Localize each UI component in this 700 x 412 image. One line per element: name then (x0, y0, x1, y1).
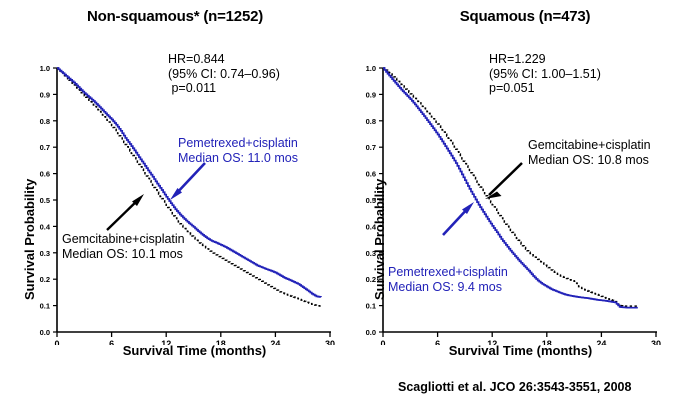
y-ticks-left: 1.0 0.9 0.8 0.7 0.6 0.5 0.4 0.3 0.2 0.1 … (40, 64, 57, 337)
svg-text:12: 12 (487, 339, 497, 345)
panel-squamous: Squamous (n=473) Survival Probability Su… (350, 0, 700, 370)
svg-text:6: 6 (435, 339, 440, 345)
svg-text:0.4: 0.4 (366, 222, 377, 231)
curve-gemcitabine-right (383, 68, 638, 306)
svg-text:24: 24 (596, 339, 606, 345)
svg-text:0.4: 0.4 (40, 222, 51, 231)
svg-text:0.0: 0.0 (40, 328, 50, 337)
svg-text:0: 0 (380, 339, 385, 345)
svg-text:30: 30 (651, 339, 661, 345)
svg-text:12: 12 (161, 339, 171, 345)
svg-text:0.8: 0.8 (366, 117, 376, 126)
svg-text:0.2: 0.2 (40, 275, 50, 284)
svg-text:0.6: 0.6 (40, 170, 50, 179)
svg-text:0.3: 0.3 (40, 249, 50, 258)
svg-text:0.7: 0.7 (366, 143, 376, 152)
svg-text:0.1: 0.1 (366, 302, 376, 311)
panel-non-squamous: Non-squamous* (n=1252) Survival Probabil… (0, 0, 350, 370)
plot-area-right: 1.0 0.9 0.8 0.7 0.6 0.5 0.4 0.3 0.2 0.1 … (350, 0, 700, 345)
svg-text:0.9: 0.9 (366, 90, 376, 99)
svg-text:0: 0 (54, 339, 59, 345)
svg-text:0.7: 0.7 (40, 143, 50, 152)
arrow-to-pemetrexed-left (170, 163, 205, 200)
x-axis-label-right: Survival Time (months) (383, 343, 658, 358)
x-ticks-right: 0 6 12 18 24 30 (380, 332, 661, 345)
svg-text:1.0: 1.0 (366, 64, 376, 73)
svg-text:0.2: 0.2 (366, 275, 376, 284)
svg-text:0.5: 0.5 (366, 196, 376, 205)
citation-text: Scagliotti et al. JCO 26:3543-3551, 2008 (398, 380, 631, 394)
curve-pemetrexed-left (57, 68, 321, 297)
svg-text:18: 18 (542, 339, 552, 345)
arrow-to-gemcitabine-right (485, 163, 522, 199)
x-axis-label-left: Survival Time (months) (57, 343, 332, 358)
arrow-to-pemetrexed-right (443, 202, 474, 235)
svg-text:0.5: 0.5 (40, 196, 50, 205)
svg-text:0.8: 0.8 (40, 117, 50, 126)
svg-text:0.3: 0.3 (366, 249, 376, 258)
svg-text:1.0: 1.0 (40, 64, 50, 73)
svg-text:0.6: 0.6 (366, 170, 376, 179)
y-ticks-right: 1.0 0.9 0.8 0.7 0.6 0.5 0.4 0.3 0.2 0.1 … (366, 64, 383, 337)
svg-text:6: 6 (109, 339, 114, 345)
svg-text:24: 24 (270, 339, 280, 345)
svg-text:0.9: 0.9 (40, 90, 50, 99)
arrow-to-gemcitabine-left (107, 194, 144, 230)
plot-area-left: 1.0 0.9 0.8 0.7 0.6 0.5 0.4 0.3 0.2 0.1 … (0, 0, 350, 345)
svg-text:0.1: 0.1 (40, 302, 50, 311)
svg-text:0.0: 0.0 (366, 328, 376, 337)
x-ticks-left: 0 6 12 18 24 30 (54, 332, 335, 345)
svg-text:18: 18 (216, 339, 226, 345)
svg-text:30: 30 (325, 339, 335, 345)
